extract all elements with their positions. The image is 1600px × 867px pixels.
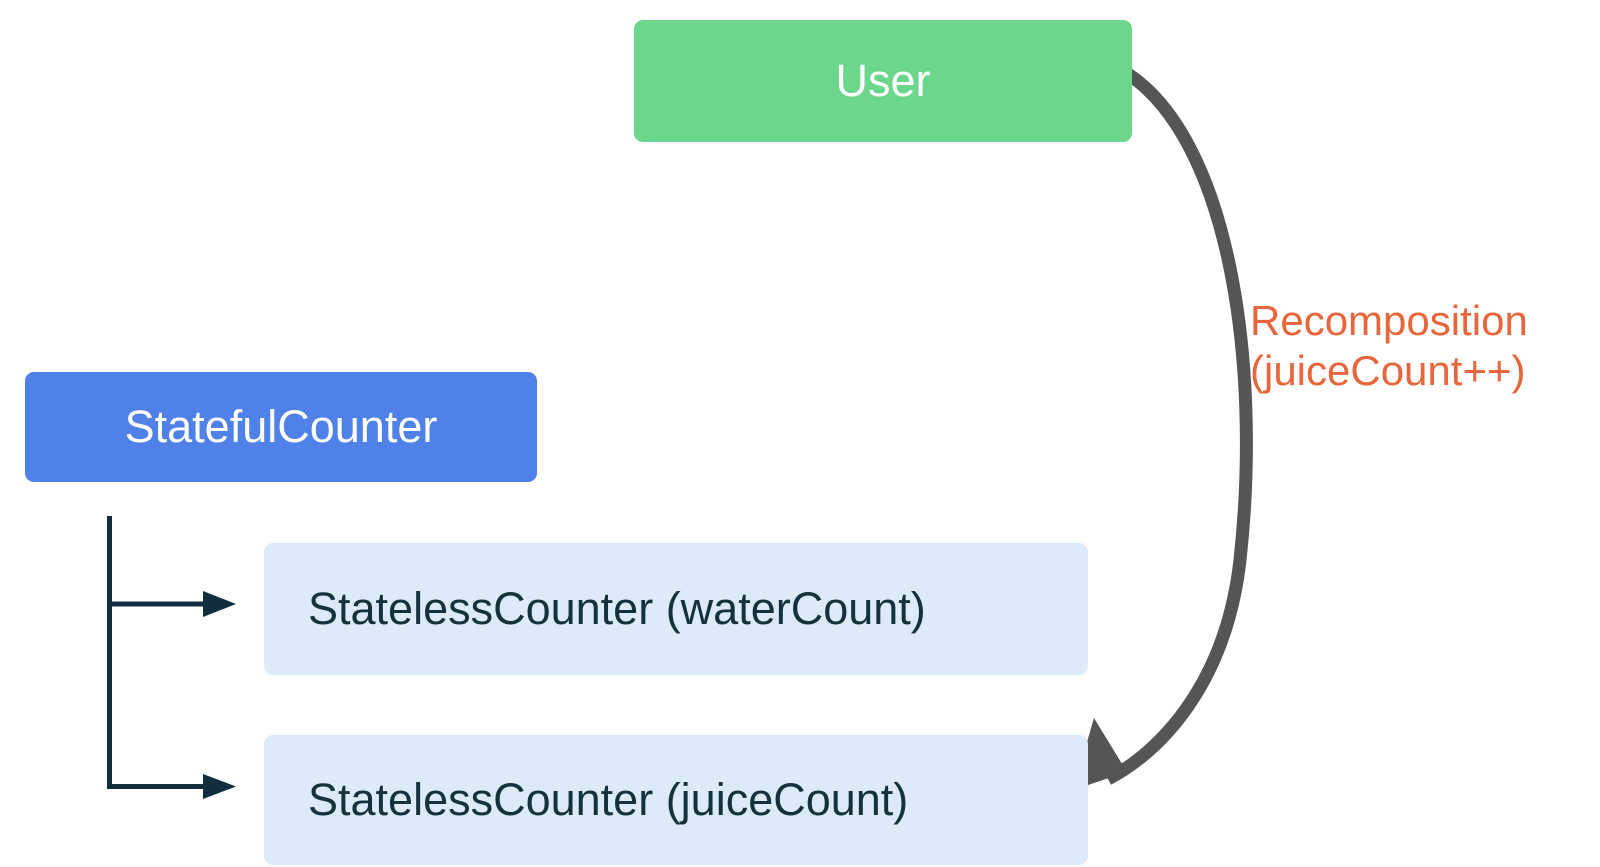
recomposition-arrow-group (1073, 74, 1246, 790)
diagram-canvas: User StatefulCounter StatelessCounter (w… (0, 0, 1600, 867)
node-stateful-counter[interactable]: StatefulCounter (25, 372, 537, 482)
node-stateful-counter-label: StatefulCounter (125, 403, 438, 450)
node-user[interactable]: User (634, 20, 1132, 142)
tree-connector-group (107, 516, 236, 799)
recomposition-curve (1108, 74, 1246, 779)
tree-arrowhead-juice (203, 774, 236, 799)
node-stateless-counter-water-label: StatelessCounter (waterCount) (308, 585, 926, 632)
node-user-label: User (835, 57, 930, 104)
node-stateless-counter-juice-label: StatelessCounter (juiceCount) (308, 776, 908, 823)
tree-arrowhead-water (203, 591, 236, 617)
node-stateless-counter-juice[interactable]: StatelessCounter (juiceCount) (264, 735, 1088, 865)
node-stateless-counter-water[interactable]: StatelessCounter (waterCount) (264, 543, 1088, 675)
recomposition-annotation: Recomposition (juiceCount++) (1250, 296, 1595, 395)
